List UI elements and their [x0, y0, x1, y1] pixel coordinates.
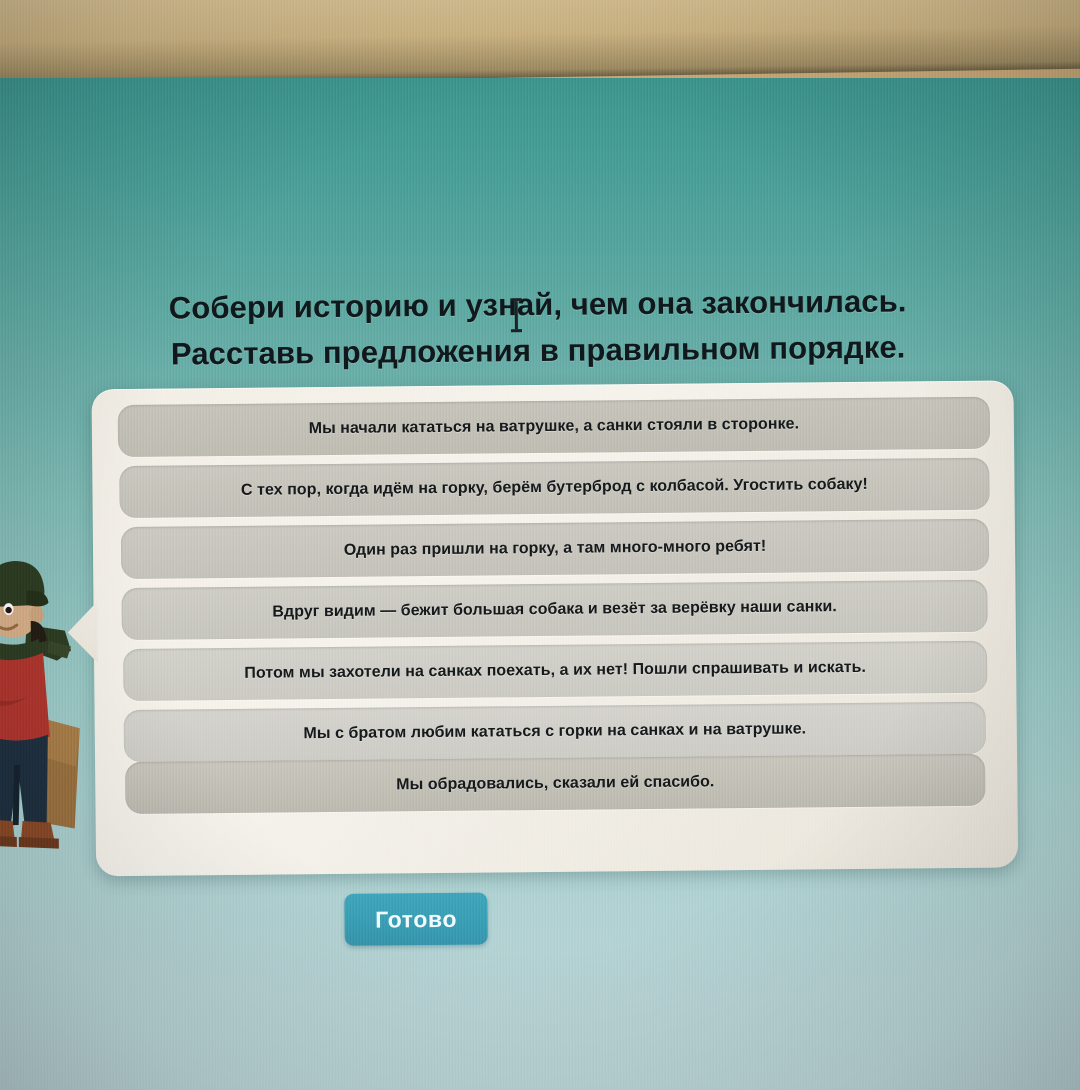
photographed-screen: Собери историю и узнай, чем она закончил… — [0, 0, 1080, 1090]
boy-with-sled-illustration — [0, 528, 93, 869]
sentence-card-text: Мы начали кататься на ватрушке, а санки … — [309, 416, 800, 439]
sentence-card[interactable]: Мы начали кататься на ватрушке, а санки … — [118, 397, 990, 457]
page-title: Собери историю и узнай, чем она закончил… — [0, 277, 1078, 379]
sentence-sort-panel: Мы начали кататься на ватрушке, а санки … — [91, 380, 1018, 876]
page-title-line-2: Расставь предложения в правильном порядк… — [0, 323, 1078, 379]
sentence-card-text: Один раз пришли на горку, а там много-мн… — [344, 538, 766, 560]
text-caret-icon — [511, 298, 522, 332]
sentence-card[interactable]: Мы обрадовались, сказали ей спасибо. — [125, 754, 985, 814]
sentence-card[interactable]: Один раз пришли на горку, а там много-мн… — [121, 519, 989, 579]
sentence-card-text: С тех пор, когда идём на горку, берём бу… — [241, 476, 868, 500]
sentence-card[interactable]: Мы с братом любим кататься с горки на са… — [124, 702, 986, 762]
sentence-card-text: Мы с братом любим кататься с горки на са… — [303, 720, 806, 743]
app-stage: Собери историю и узнай, чем она закончил… — [0, 0, 1080, 1090]
done-button[interactable]: Готово — [344, 893, 487, 946]
sentence-card-text: Вдруг видим — бежит большая собака и вез… — [272, 598, 837, 621]
sentence-card-text: Потом мы захотели на санках поехать, а и… — [244, 659, 866, 683]
sentence-card-text: Мы обрадовались, сказали ей спасибо. — [396, 773, 714, 794]
sentence-card[interactable]: Потом мы захотели на санках поехать, а и… — [123, 641, 987, 701]
sentence-card[interactable]: С тех пор, когда идём на горку, берём бу… — [119, 458, 989, 518]
sentence-card[interactable]: Вдруг видим — бежит большая собака и вез… — [121, 580, 987, 640]
